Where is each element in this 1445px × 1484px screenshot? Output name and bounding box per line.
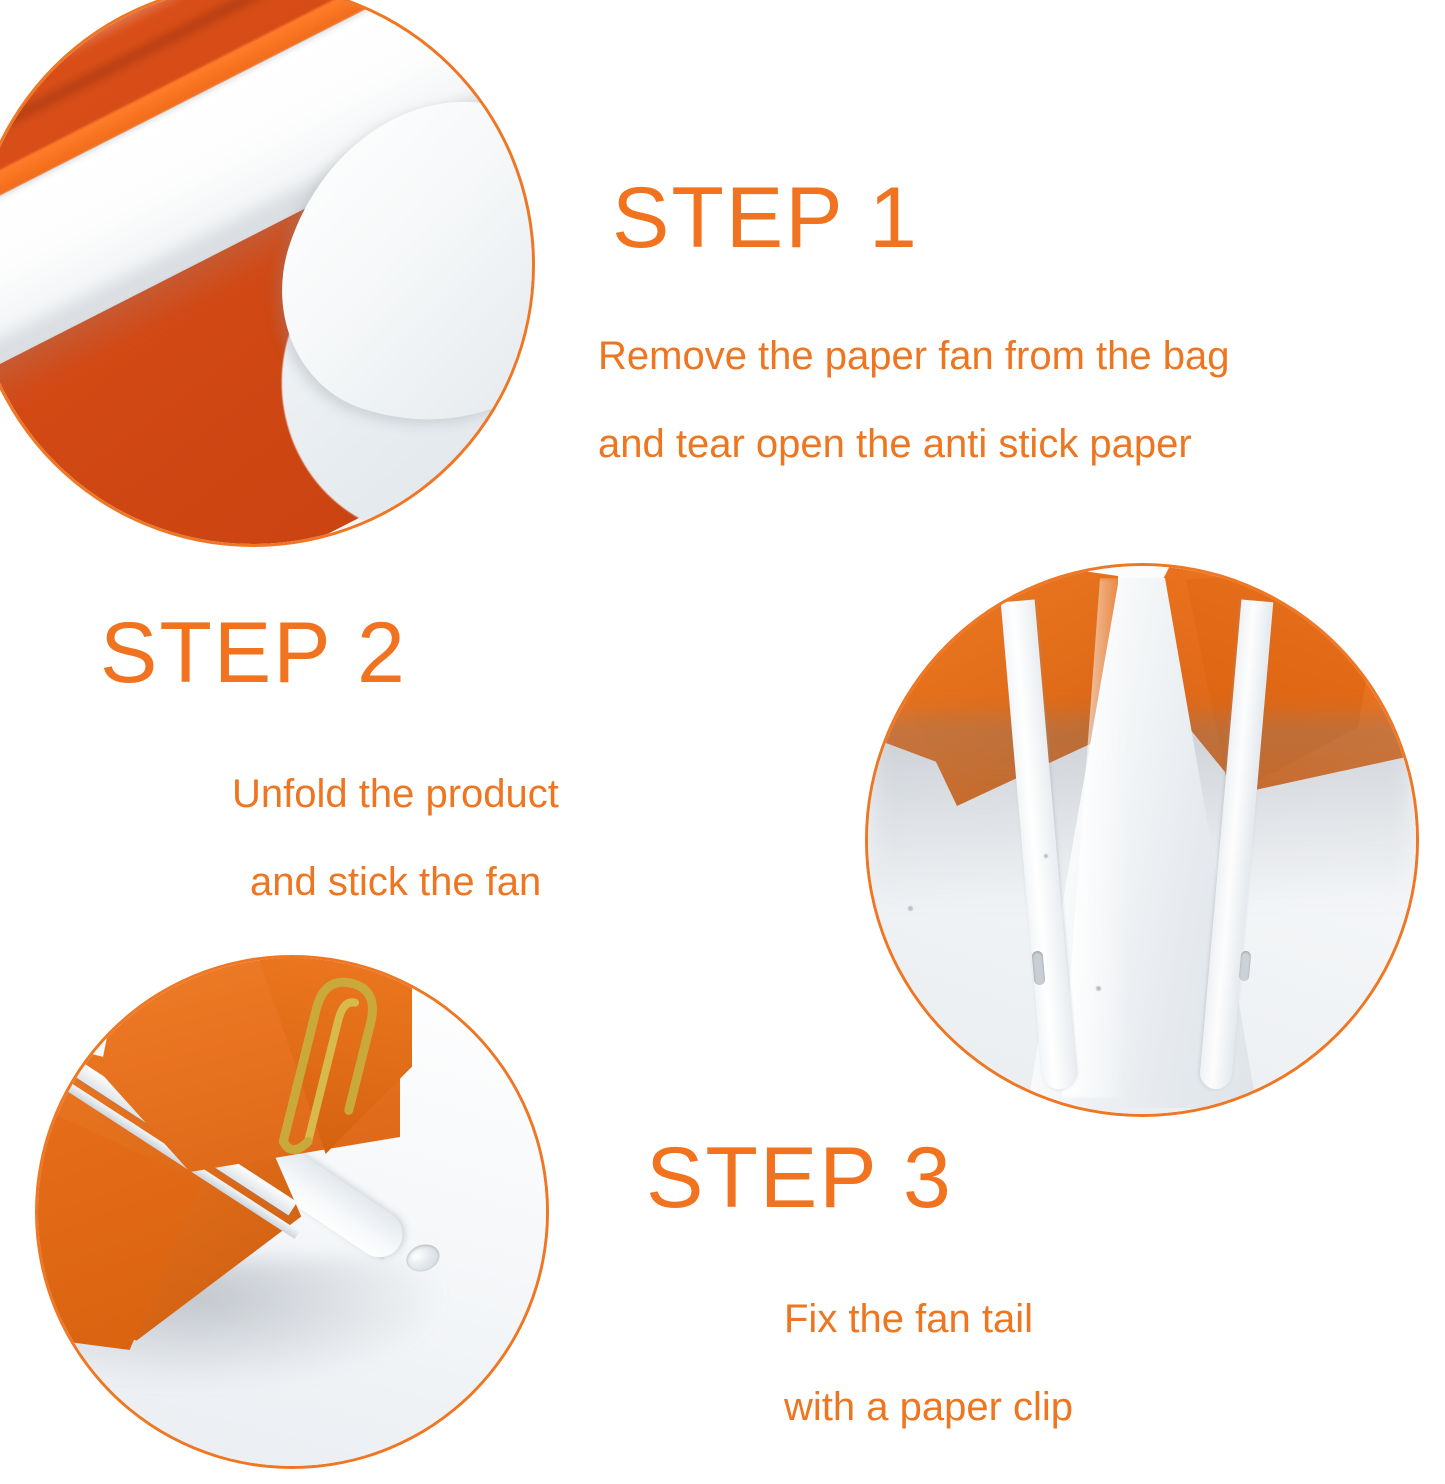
- photo-folded-fan-with-anti-stick-strip: [0, 0, 532, 544]
- step-3-line-2: with a paper clip: [784, 1387, 1073, 1427]
- step-1-line-2: and tear open the anti stick paper: [598, 424, 1229, 464]
- step-2-text-block: STEP 2 Unfold the product and stick the …: [100, 610, 559, 902]
- step-3-title: STEP 3: [646, 1135, 1073, 1221]
- step-3-text-block: STEP 3 Fix the fan tail with a paper cli…: [638, 1135, 1073, 1427]
- step-1-line-1: Remove the paper fan from the bag: [598, 336, 1229, 376]
- step-1-title: STEP 1: [612, 175, 1229, 261]
- step-2-title: STEP 2: [100, 610, 559, 696]
- step-1-text-block: STEP 1 Remove the paper fan from the bag…: [598, 175, 1229, 464]
- step-3-line-1: Fix the fan tail: [784, 1299, 1073, 1339]
- instruction-graphic: STEP 1 Remove the paper fan from the bag…: [0, 0, 1445, 1484]
- photo-fan-tail-with-paper-clip: [38, 958, 546, 1466]
- step-2-line-2: and stick the fan: [250, 862, 559, 902]
- photo-unfolded-fan-with-tails: [868, 566, 1416, 1114]
- step-2-line-1: Unfold the product: [232, 774, 559, 814]
